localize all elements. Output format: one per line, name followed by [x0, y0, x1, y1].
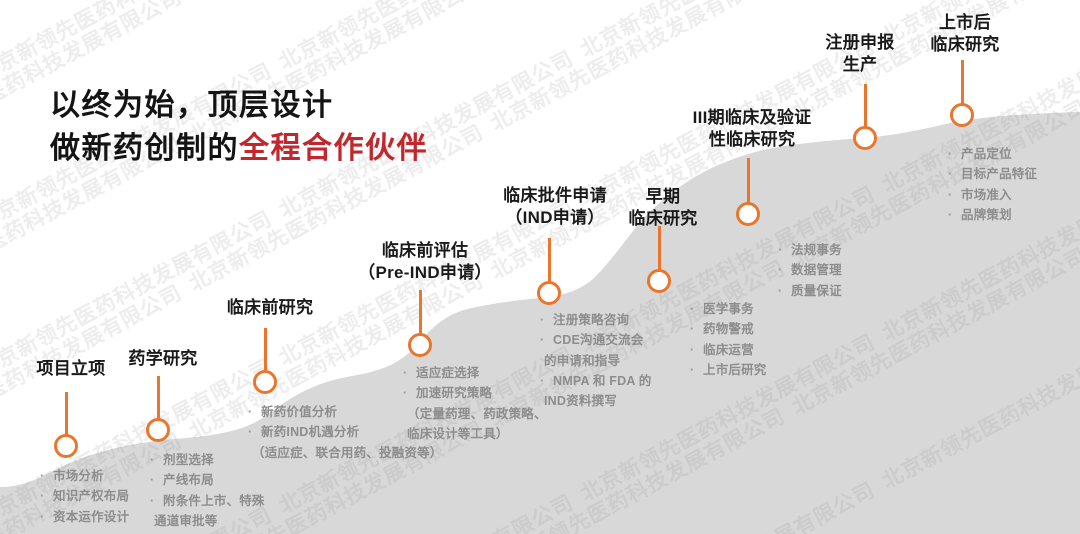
- headline-line-2-accent: 全程合作伙伴: [239, 132, 428, 165]
- milestone-title: 注册申报 生产: [800, 32, 920, 76]
- bullet-item: 适应症选择: [403, 363, 547, 383]
- milestone-node-circle[interactable]: [647, 269, 671, 293]
- milestone-node-circle[interactable]: [54, 434, 78, 458]
- bullet-item: （适应症、联合用药、投融资等）: [248, 443, 443, 463]
- milestone-node-circle[interactable]: [853, 126, 877, 150]
- milestone-title: 药学研究: [108, 348, 218, 370]
- bullet-item: CDE沟通交流会: [540, 330, 651, 350]
- bullet-item: 市场分析: [40, 466, 129, 486]
- bullet-item: 市场准入: [948, 185, 1037, 205]
- milestone-node-circle[interactable]: [537, 281, 561, 305]
- bullet-item: 加速研究策略: [403, 383, 547, 403]
- bullet-item: （定量药理、药政策略、: [403, 404, 547, 424]
- bullet-item: 知识产权布局: [40, 486, 129, 506]
- bullet-item: 临床运营: [690, 340, 767, 360]
- bullet-item: 临床设计等工具）: [403, 424, 547, 444]
- milestone-bullets-early-clinical-research: 医学事务药物警戒临床运营上市后研究: [690, 299, 767, 380]
- bullet-item: NMPA 和 FDA 的: [540, 371, 651, 391]
- bullet-item: 数据管理: [778, 260, 842, 280]
- slide-canvas: 北京新领先医药科技发展有限公司 北京新领先医药科技发展有限公司 北京新领先医药科…: [0, 0, 1080, 534]
- headline-line-1: 以终为始，顶层设计: [50, 85, 428, 128]
- bullet-item: 目标产品特征: [948, 164, 1037, 184]
- bullet-item: 品牌策划: [948, 205, 1037, 225]
- milestone-node-circle[interactable]: [950, 103, 974, 127]
- milestone-node-circle[interactable]: [408, 333, 432, 357]
- bullet-item: 资本运作设计: [40, 507, 129, 527]
- headline-line-2-prefix: 做新药创制的: [50, 132, 239, 165]
- bullet-item: 法规事务: [778, 240, 842, 260]
- bullet-item: 的申请和指导: [540, 351, 651, 371]
- bullet-item: 产线布局: [150, 470, 265, 490]
- bullet-item: 药物警戒: [690, 319, 767, 339]
- milestone-bullets-phase3-clinical: 法规事务数据管理质量保证: [778, 240, 842, 301]
- milestone-bullets-preclinical-evaluation: 适应症选择加速研究策略（定量药理、药政策略、临床设计等工具）: [403, 363, 547, 444]
- milestone-node-circle[interactable]: [736, 202, 760, 226]
- milestone-bullets-post-marketing-research: 产品定位目标产品特征市场准入品牌策划: [948, 144, 1037, 225]
- bullet-item: 注册策略咨询: [540, 310, 651, 330]
- milestone-bullets-ind-application: 注册策略咨询CDE沟通交流会的申请和指导NMPA 和 FDA 的IND资料撰写: [540, 310, 651, 411]
- milestone-bullets-project-initiation: 市场分析知识产权布局资本运作设计: [40, 466, 129, 527]
- milestone-title: 临床前研究: [205, 297, 335, 319]
- milestone-node-circle[interactable]: [146, 418, 170, 442]
- bullet-item: IND资料撰写: [540, 391, 651, 411]
- bullet-item: 通道审批等: [150, 511, 265, 531]
- bullet-item: 上市后研究: [690, 360, 767, 380]
- headline-line-2: 做新药创制的全程合作伙伴: [50, 128, 428, 171]
- bullet-item: 产品定位: [948, 144, 1037, 164]
- milestone-title: 上市后 临床研究: [905, 12, 1025, 56]
- milestone-title: III期临床及验证 性临床研究: [672, 107, 832, 151]
- bullet-item: 质量保证: [778, 281, 842, 301]
- bullet-item: 附条件上市、特殊: [150, 491, 265, 511]
- milestone-title: 临床前评估 （Pre-IND申请）: [340, 240, 510, 284]
- milestone-title: 早期 临床研究: [608, 186, 718, 230]
- bullet-item: 医学事务: [690, 299, 767, 319]
- milestone-node-circle[interactable]: [253, 370, 277, 394]
- headline: 以终为始，顶层设计 做新药创制的全程合作伙伴: [50, 85, 428, 170]
